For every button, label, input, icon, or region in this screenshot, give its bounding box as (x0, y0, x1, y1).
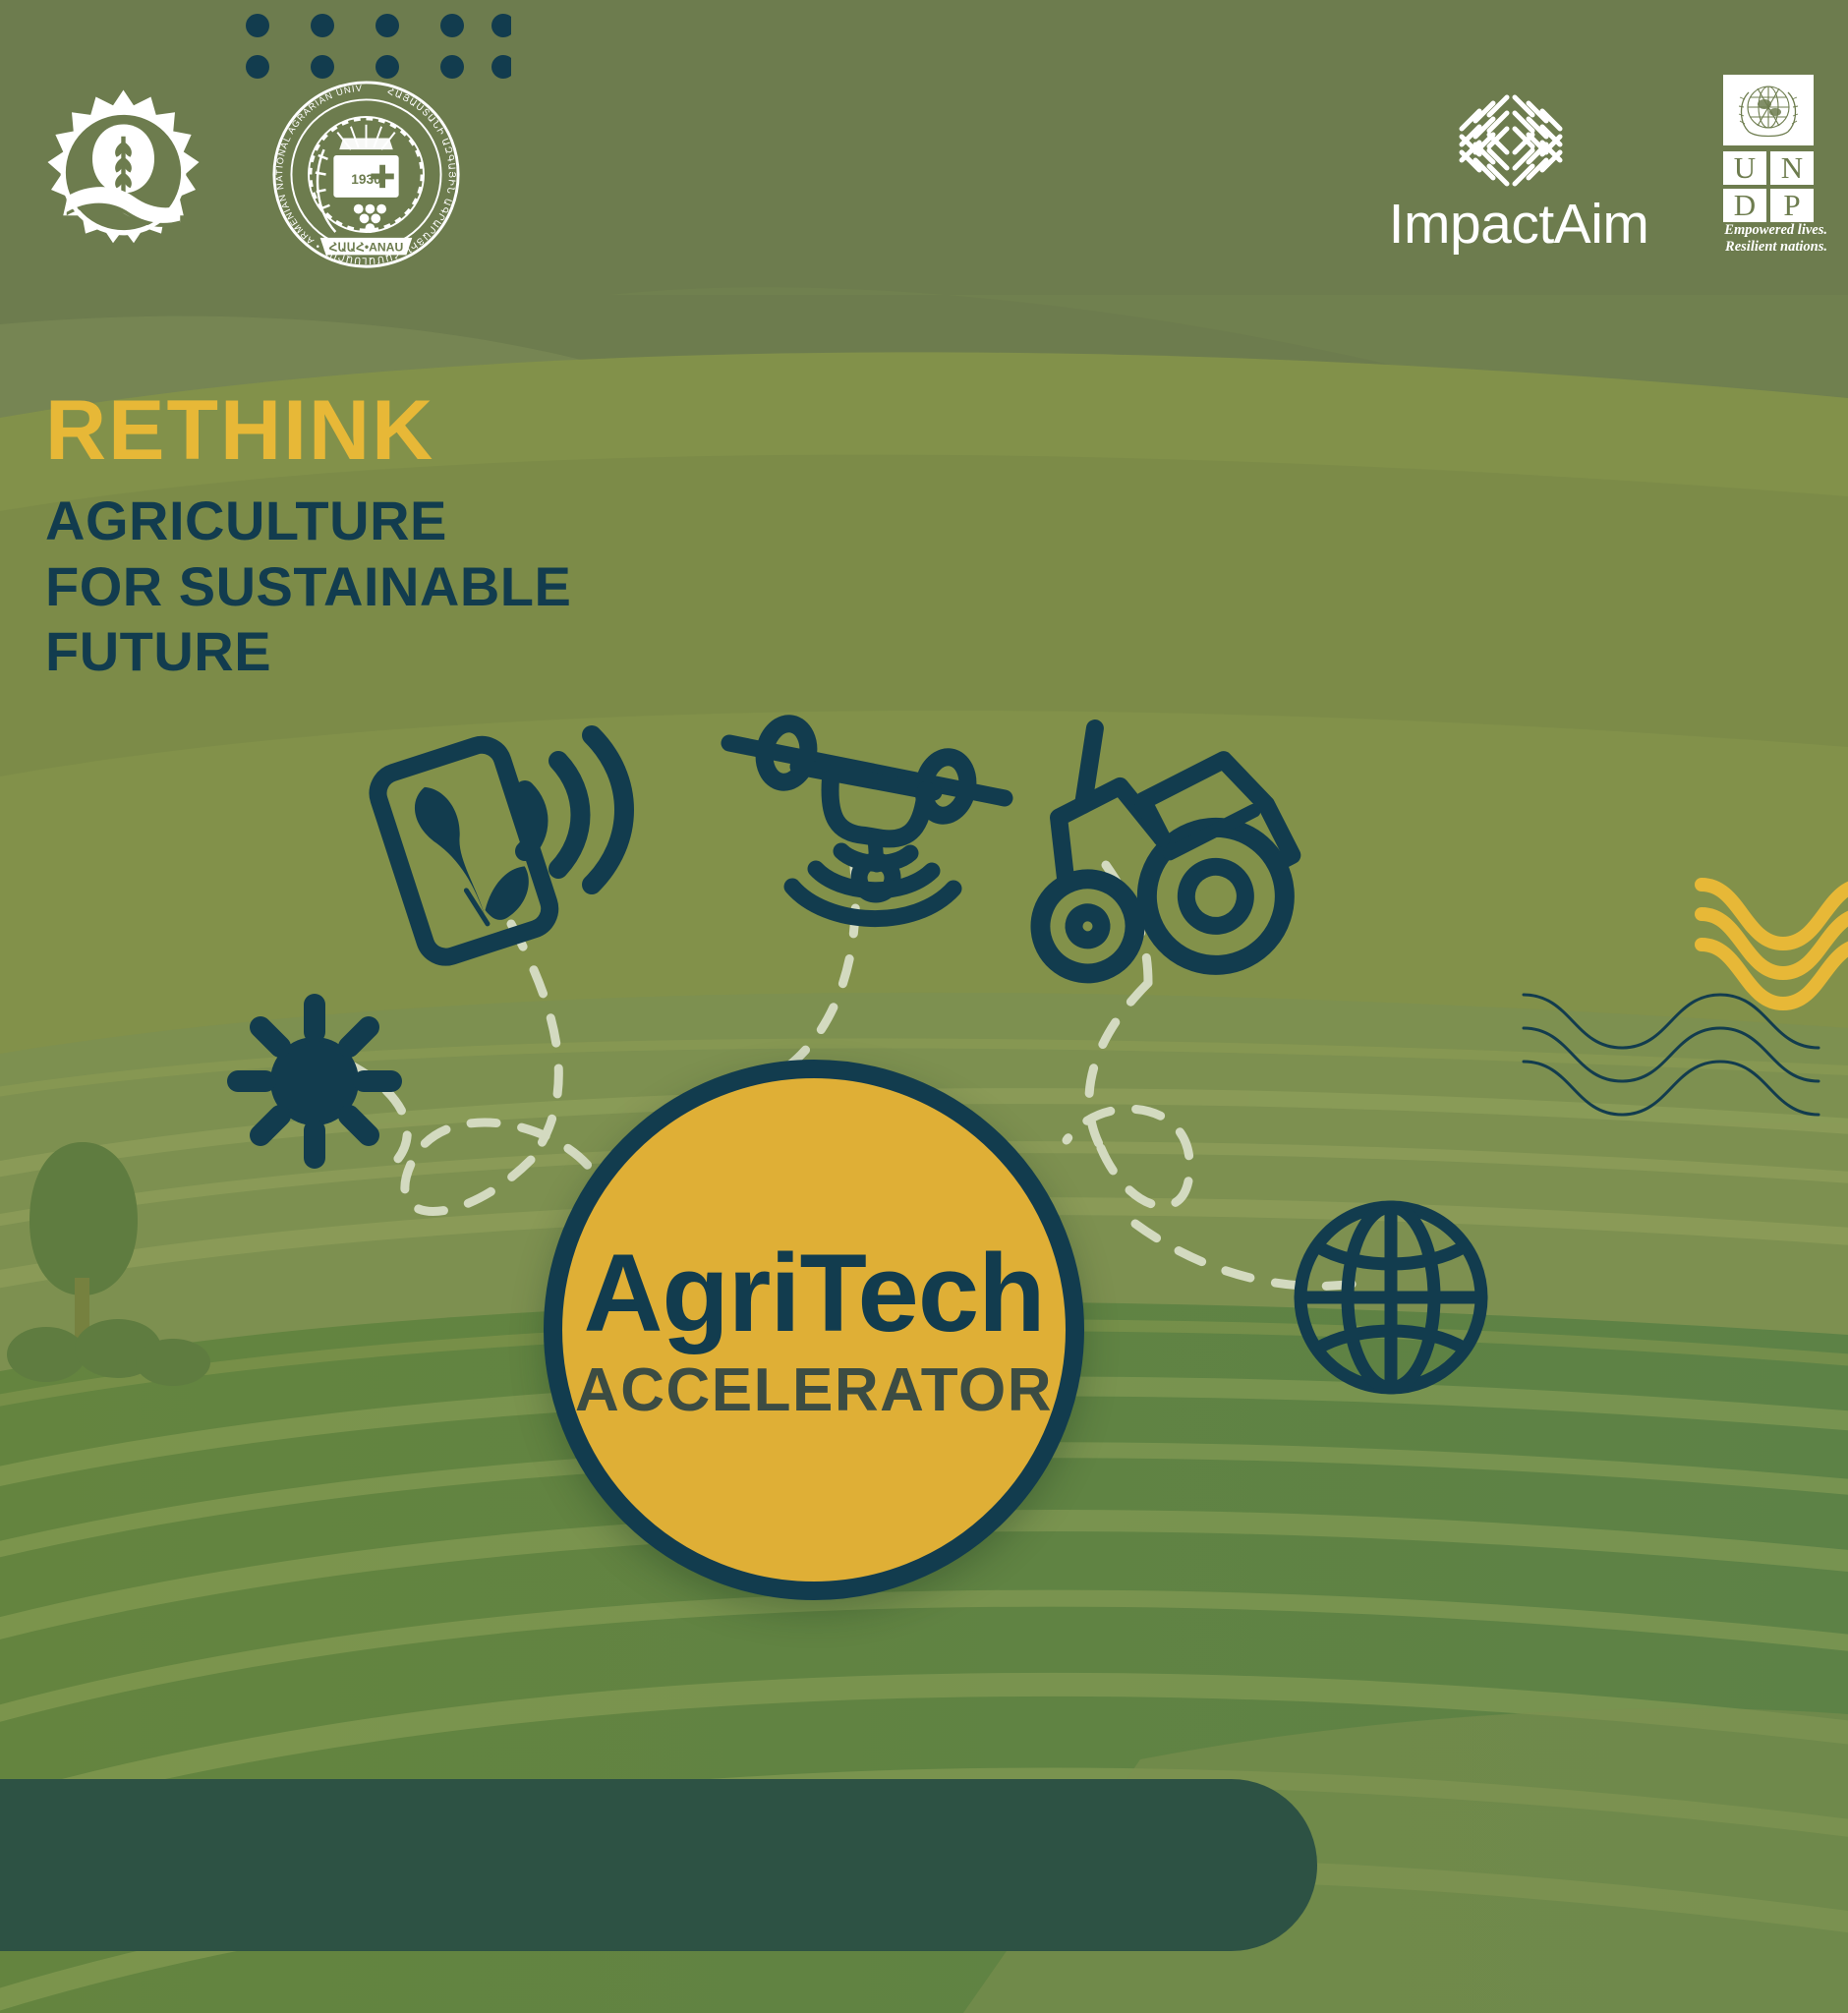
gear-wheat-field-logo (37, 86, 209, 259)
svg-text:ՀԱԱՀ•ANAU: ՀԱԱՀ•ANAU (329, 241, 404, 255)
un-emblem-icon (1723, 75, 1814, 145)
undp-letter-p: P (1770, 189, 1814, 222)
headline-line-2: FOR SUSTAINABLE (45, 554, 571, 620)
undp-logo: U N D P Empowered lives. Resilient natio… (1723, 75, 1825, 261)
dot-grid-icon (246, 14, 511, 79)
undp-letter-d: D (1723, 189, 1766, 222)
agritech-accelerator-badge: AgriTech ACCELERATOR (544, 1060, 1084, 1600)
sun-icon (238, 1005, 391, 1158)
badge-title: AgriTech (583, 1238, 1044, 1349)
impactaim-wordmark: ImpactAim (1357, 197, 1681, 253)
headline-line-1: AGRICULTURE (45, 489, 571, 554)
agritech-icons (0, 0, 1848, 2013)
poster-root: ՀԱՅԱՍՏԱՆԻ ԱԶԳԱՅԻՆ ԱԳՐԱՐԱՅԻՆ ՀԱՄԱԼՍԱՐԱՆ •… (0, 0, 1848, 2013)
undp-tagline-line1: Empowered lives. (1724, 222, 1827, 238)
undp-tagline: Empowered lives. Resilient nations. (1717, 222, 1827, 256)
undp-letter-u: U (1723, 151, 1766, 185)
drone-signal-icon (792, 851, 953, 919)
headline-accent-word: RETHINK (45, 388, 571, 473)
anau-university-seal: ՀԱՅԱՍՏԱՆԻ ԱԶԳԱՅԻՆ ԱԳՐԱՐԱՅԻՆ ՀԱՄԱԼՍԱՐԱՆ •… (270, 79, 462, 270)
undp-tagline-line2: Resilient nations. (1725, 239, 1827, 255)
woven-diamond-mark (1447, 86, 1575, 195)
partner-footer-bar (0, 1779, 1317, 1951)
header-logo-row: ՀԱՅԱՍՏԱՆԻ ԱԶԳԱՅԻՆ ԱԳՐԱՐԱՅԻՆ ՀԱՄԱԼՍԱՐԱՆ •… (0, 0, 1848, 295)
badge-subtitle: ACCELERATOR (575, 1360, 1053, 1421)
headline-block: RETHINK AGRICULTURE FOR SUSTAINABLE FUTU… (45, 388, 571, 685)
headline-line-3: FUTURE (45, 619, 571, 685)
impactaim-logo: ImpactAim (1357, 86, 1681, 259)
tractor-icon (967, 675, 1324, 1037)
globe-icon (1300, 1207, 1481, 1388)
undp-letter-n: N (1770, 151, 1814, 185)
